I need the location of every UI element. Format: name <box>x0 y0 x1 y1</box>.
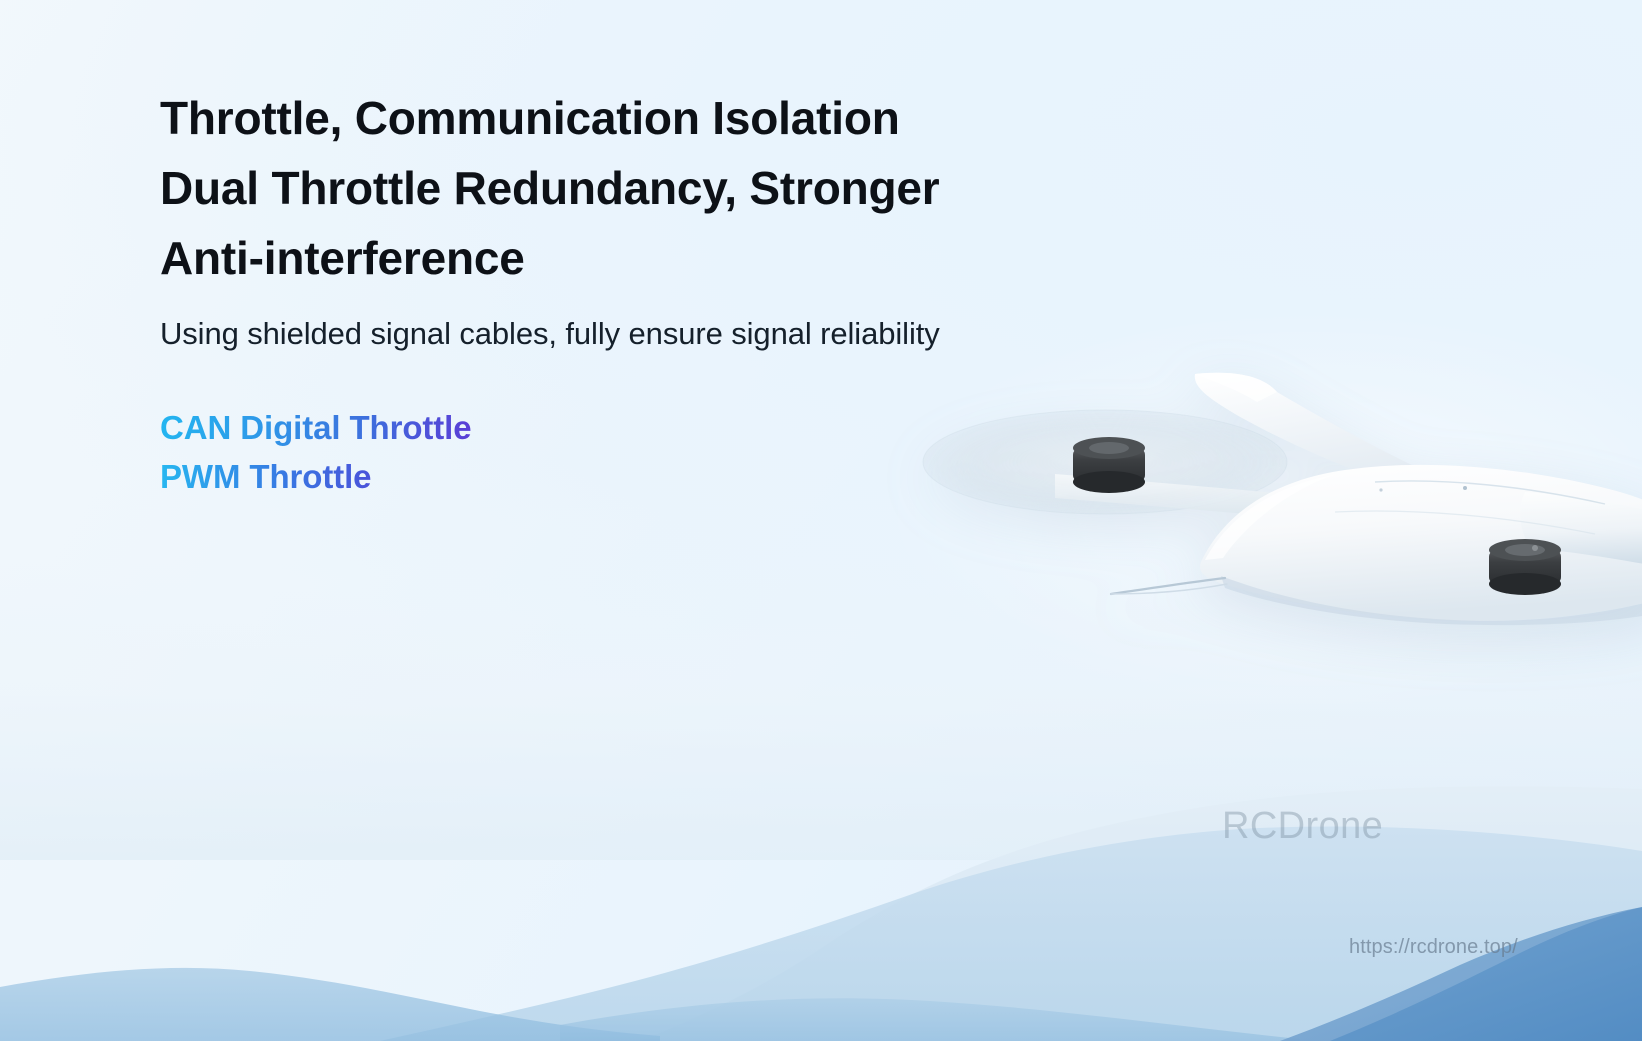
headline-line-3: Anti-interference <box>160 224 1300 294</box>
headline-line-1: Throttle, Communication Isolation <box>160 84 1300 154</box>
watermark-text: RCDrone <box>1222 805 1383 848</box>
haze-band-lower <box>0 560 1642 860</box>
subheadline: Using shielded signal cables, fully ensu… <box>160 316 1300 352</box>
slide-canvas: Throttle, Communication Isolation Dual T… <box>0 0 1642 1041</box>
mountain-silhouette-icon <box>0 781 1642 1041</box>
feature-list: CAN Digital Throttle PWM Throttle <box>160 404 1300 502</box>
copy-block: Throttle, Communication Isolation Dual T… <box>160 84 1300 501</box>
headline-line-2: Dual Throttle Redundancy, Stronger <box>160 154 1300 224</box>
site-url-text: https://rcdrone.top/ <box>1349 936 1518 959</box>
motor-hub-right <box>1489 539 1561 595</box>
feature-pwm-throttle: PWM Throttle <box>160 453 371 502</box>
feature-can-digital-throttle: CAN Digital Throttle <box>160 404 471 453</box>
